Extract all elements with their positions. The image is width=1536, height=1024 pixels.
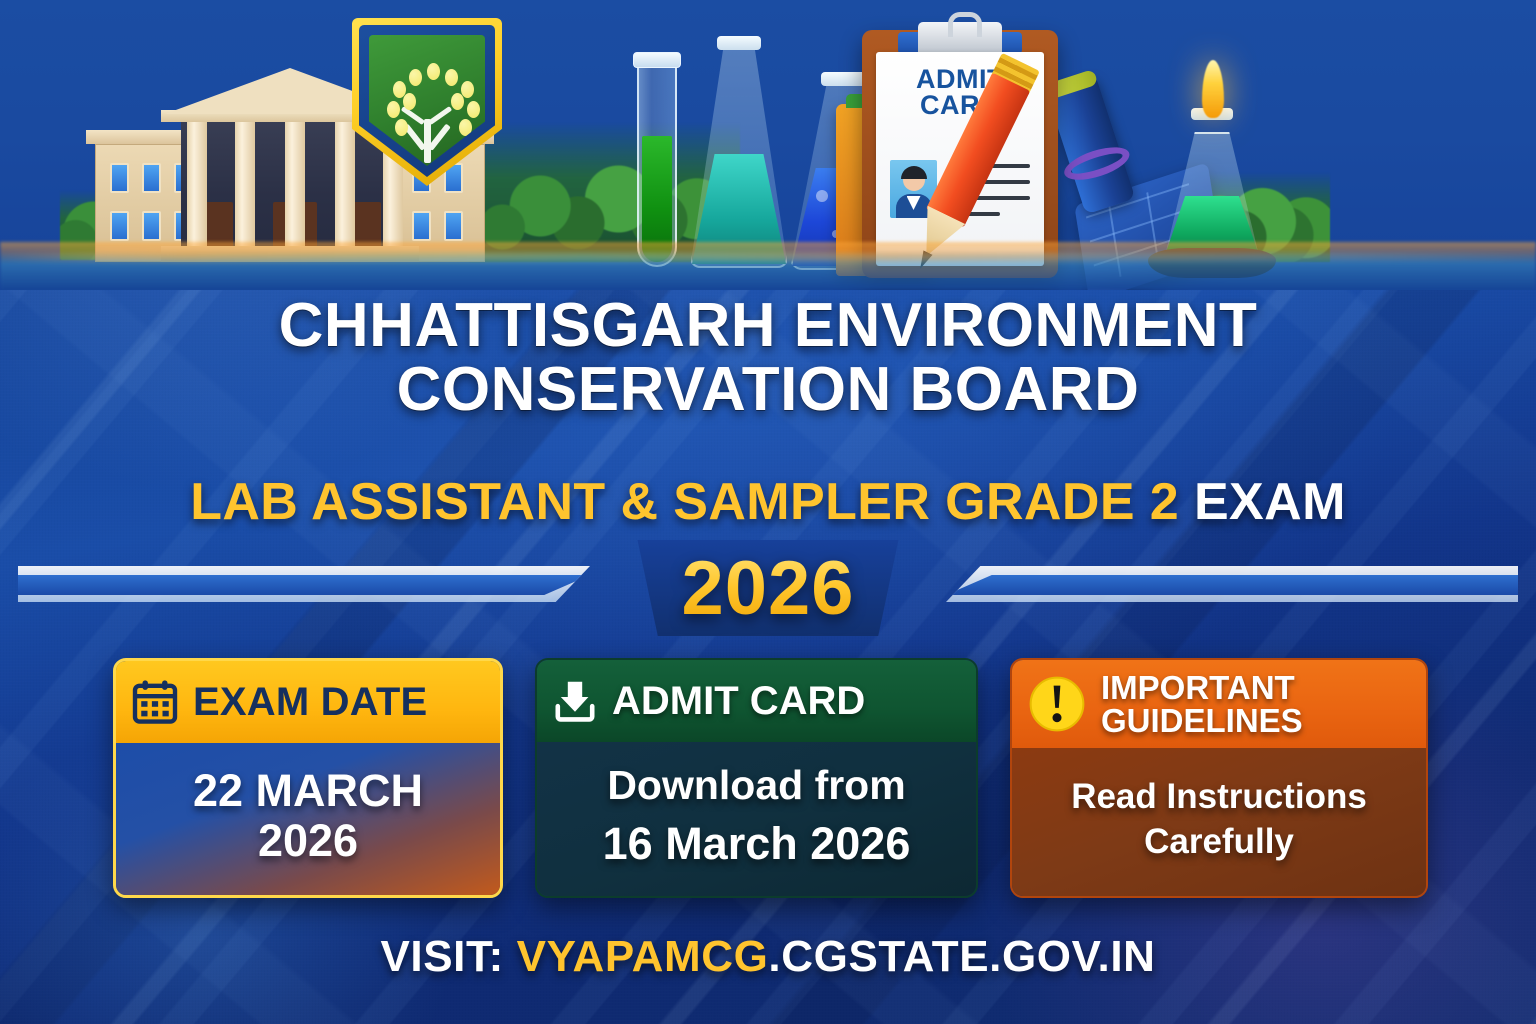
avatar-hair [901,166,927,179]
card-guidelines-heading-line2: GUIDELINES [1101,704,1303,737]
exam-name-line: LAB ASSISTANT & SAMPLER GRADE 2 EXAM [0,472,1536,532]
exam-notification-banner: ADMIT CARD [0,0,1536,1024]
guidelines-text-line1: Read Instructions [1071,777,1367,816]
hero-illustration: ADMIT CARD [0,0,1536,290]
page-title-line2: CONSERVATION BOARD [0,358,1536,422]
test-tube-rim [633,52,681,68]
tree-trunk-icon [424,119,431,163]
hero-ground [0,242,1536,290]
calendar-icon [130,677,180,727]
building-window [110,211,129,241]
exam-year-band: 2026 [0,540,1536,640]
building-window [412,211,431,241]
tree-leaf [427,63,440,80]
website-domain-rest: .CGSTATE.GOV.IN [768,932,1155,981]
tree-leaf [395,119,408,136]
tree-branch [428,124,451,151]
environment-shield-icon [352,18,502,186]
warning-icon [1026,673,1088,735]
building-window [142,211,161,241]
tree-leaf [461,81,474,98]
card-admit-card-header: ADMIT CARD [537,660,976,742]
exam-date-value-line1: 22 MARCH [193,766,423,816]
website-domain-highlight: VYAPAMCG [517,932,769,981]
building-window [444,211,463,241]
tree-leaf [445,69,458,86]
building-column [285,120,305,248]
building-window [110,163,129,193]
card-admit-card-heading: ADMIT CARD [612,681,865,721]
tree-leaf [467,101,480,118]
card-admit-card-body: Download from 16 March 2026 [537,742,976,896]
card-exam-date-body: 22 MARCH 2026 [116,743,500,895]
card-exam-date[interactable]: EXAM DATE 22 MARCH 2026 [113,658,503,898]
liquid-bubble [816,190,828,202]
tree-leaf [451,93,464,110]
tree-branch [428,106,452,125]
visit-label: VISIT: [380,932,503,981]
building-column [235,120,255,248]
tree-leaf [409,69,422,86]
exam-name-plain [1179,473,1194,531]
info-cards-row: EXAM DATE 22 MARCH 2026 ADMIT CARD Downl… [113,658,1428,898]
tree-leaf [403,93,416,110]
card-guidelines-header: IMPORTANT GUIDELINES [1012,660,1426,748]
banner-title-block: CHHATTISGARH ENVIRONMENT CONSERVATION BO… [0,294,1536,422]
card-admit-card[interactable]: ADMIT CARD Download from 16 March 2026 [535,658,978,898]
exam-word: EXAM [1194,473,1346,531]
official-website-line[interactable]: VISIT: VYAPAMCG.CGSTATE.GOV.IN [0,932,1536,982]
page-title-line1: CHHATTISGARH ENVIRONMENT [0,294,1536,358]
admit-card-availability-label: Download from [607,763,905,809]
building-column [187,120,207,248]
tree-leaf [387,101,400,118]
card-exam-date-heading: EXAM DATE [193,682,427,722]
footer-visit-bar: VISIT: VYAPAMCG.CGSTATE.GOV.IN [0,932,1536,982]
card-guidelines-heading-line1: IMPORTANT [1101,671,1303,704]
test-tube-icon [637,52,677,267]
exam-date-value-line2: 2026 [258,816,358,866]
card-guidelines-body: Read Instructions Carefully [1012,748,1426,896]
building-window [142,163,161,193]
guidelines-text-line2: Carefully [1144,822,1294,861]
card-guidelines-heading: IMPORTANT GUIDELINES [1101,671,1303,737]
exam-year: 2026 [0,545,1536,632]
conical-flask-icon [690,36,788,268]
download-icon [551,677,599,725]
admit-card-availability-date: 16 March 2026 [603,819,911,869]
card-important-guidelines[interactable]: IMPORTANT GUIDELINES Read Instructions C… [1010,658,1428,898]
test-tube-glass [637,62,677,267]
conical-flask-glass [690,48,788,268]
card-exam-date-header: EXAM DATE [116,661,500,743]
exam-name-highlight: LAB ASSISTANT & SAMPLER GRADE 2 [190,473,1179,531]
banner-subtitle-block: LAB ASSISTANT & SAMPLER GRADE 2 EXAM [0,472,1536,532]
conical-flask-rim [717,36,761,50]
